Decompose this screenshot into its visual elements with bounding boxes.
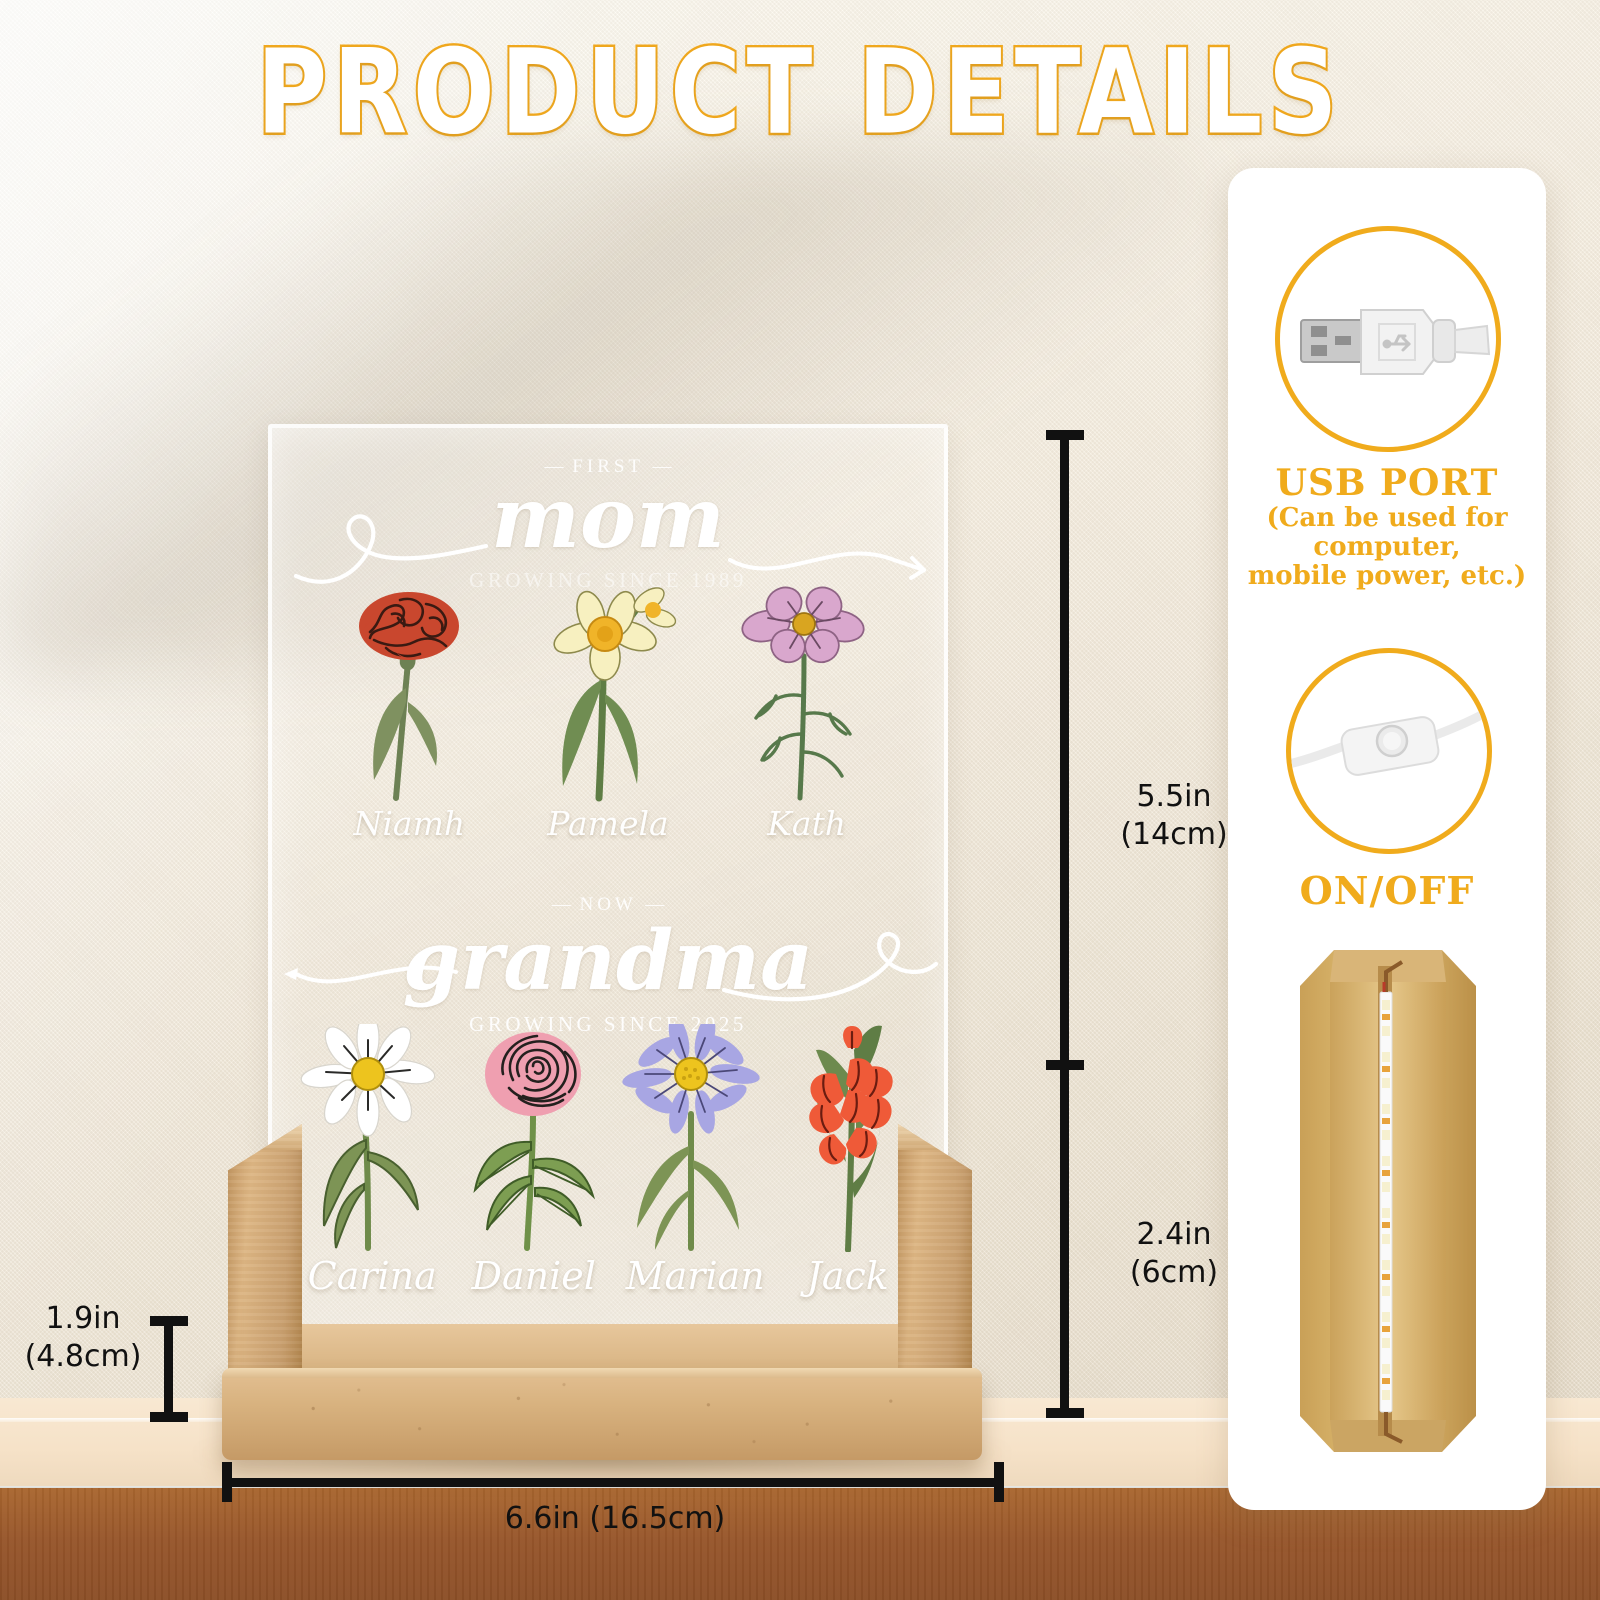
flower-row-first: Niamh [268,584,948,843]
flower-cell-pamela: Pamela [533,584,683,843]
stand-base-grain [222,1368,982,1460]
wooden-base-led-strip-icon [1290,946,1486,1456]
dim-width-text: 6.6in (16.5cm) [505,1501,726,1536]
wooden-stand [222,1060,982,1460]
dim-width-cap-right [994,1462,1004,1502]
dim-depth-bar [164,1322,173,1418]
flower-cell-kath: Kath [732,584,882,843]
dim-height-total-cap-top [1046,430,1084,440]
daffodil-icon [533,584,683,802]
on-off-title: ON/OFF [1228,868,1546,913]
now-grandma-block: — NOW — grandma GROWING SINCE 2025 [268,894,948,1037]
on-off-switch-circle [1286,648,1492,854]
dim-height-base-cap-top [1046,1060,1084,1070]
eyebrow-dash-right: — [645,894,664,915]
stand-shelf [296,1324,908,1368]
info-card: USB PORT (Can be used for computer, mobi… [1228,168,1546,1510]
page-title: PRODUCT DETAILS [0,24,1600,161]
dim-width-cap-left [222,1462,232,1502]
carnation-icon [334,584,484,802]
usb-connector-icon [1283,274,1493,404]
dim-height-base-bar [1060,1066,1069,1414]
dim-depth-cap-bottom [150,1412,188,1422]
grandma-script-text: grandma [268,918,948,1004]
eyebrow-text: FIRST [572,456,643,477]
usb-port-title: USB PORT [1228,462,1546,504]
usb-port-subtitle: (Can be used for computer, mobile power,… [1228,504,1546,591]
eyebrow-dash-right: — [652,456,671,477]
usb-port-circle [1275,226,1501,452]
eyebrow-dash-left: — [545,456,564,477]
first-eyebrow: — FIRST — [268,456,948,478]
stand-base [222,1368,982,1460]
dim-depth-inches: 1.9in [8,1300,158,1338]
flower-name: Niamh [354,804,466,843]
dim-depth-label: 1.9in (4.8cm) [8,1300,158,1375]
inline-rocker-switch-icon [1291,691,1487,811]
eyebrow-dash-left: — [552,894,571,915]
dim-width-bar [228,1478,1002,1487]
flower-name: Kath [767,804,846,843]
flower-cell-niamh: Niamh [334,584,484,843]
now-eyebrow: — NOW — [268,894,948,916]
cosmos-icon [732,584,882,802]
mom-script-text: mom [268,474,948,562]
flower-name: Pamela [547,804,668,843]
eyebrow-text: NOW [579,894,636,915]
first-mom-block: — FIRST — mom GROWING SINCE 1989 [268,456,948,593]
dim-width-label: 6.6in (16.5cm) [425,1500,805,1538]
dim-depth-cm: (4.8cm) [8,1338,158,1376]
